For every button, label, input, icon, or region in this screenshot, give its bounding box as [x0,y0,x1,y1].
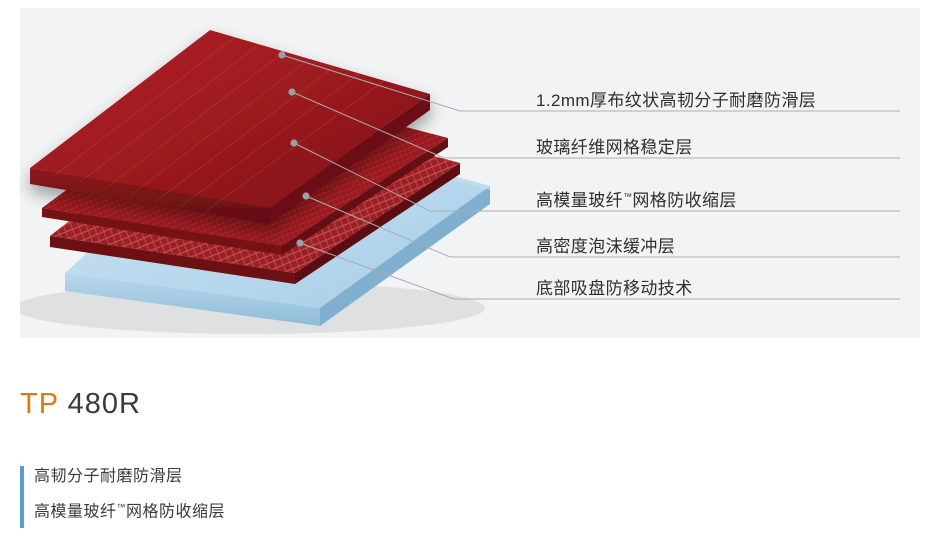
product-title: TP 480R [20,390,620,419]
callout-label-wear-layer: 1.2mm厚布纹状高韧分子耐磨防滑层 [536,86,816,111]
feature-item-1: 高韧分子耐磨防滑层 [34,462,620,492]
feature-item-2: 高模量玻纤™网格防收缩层 [34,492,620,527]
product-illustration: 1.2mm厚布纹状高韧分子耐磨防滑层 玻璃纤维网格稳定层 高模量玻纤™网格防收缩… [20,8,920,338]
callout-label-foam-layer: 高密度泡沫缓冲层 [536,232,675,257]
callout-label-fiberglass-layer: 玻璃纤维网格稳定层 [536,133,693,158]
product-name-block: TP 480R [20,390,620,419]
product-model: 480R [68,388,141,420]
product-brand: TP [20,388,59,420]
callout-label-mesh-layer: 高模量玻纤™网格防收缩层 [536,186,737,211]
callout-label-suction-tech: 底部吸盘防移动技术 [536,274,693,299]
callout-label-group: 1.2mm厚布纹状高韧分子耐磨防滑层 玻璃纤维网格稳定层 高模量玻纤™网格防收缩… [20,8,920,338]
feature-list: 高韧分子耐磨防滑层 高模量玻纤™网格防收缩层 [20,462,620,527]
